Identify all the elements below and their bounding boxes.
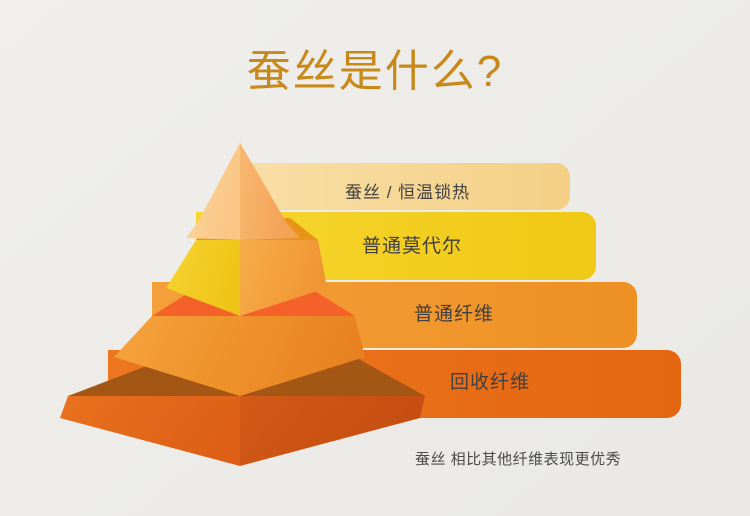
- tier-4-right-face: [240, 396, 425, 466]
- pyramid-chart: [0, 0, 750, 516]
- bar-label-tier-4: 回收纤维: [450, 373, 530, 392]
- bar-label-tier-1: 蚕丝 / 恒温锁热: [345, 184, 470, 201]
- bar-label-tier-2: 普通莫代尔: [362, 237, 462, 256]
- chart-caption: 蚕丝 相比其他纤维表现更优秀: [415, 448, 621, 469]
- tier-1-left-face-outer: [186, 143, 240, 240]
- infographic-canvas: 蚕丝是什么?: [0, 0, 750, 516]
- bar-label-tier-3: 普通纤维: [414, 305, 494, 324]
- tier-4-left-face: [60, 396, 240, 466]
